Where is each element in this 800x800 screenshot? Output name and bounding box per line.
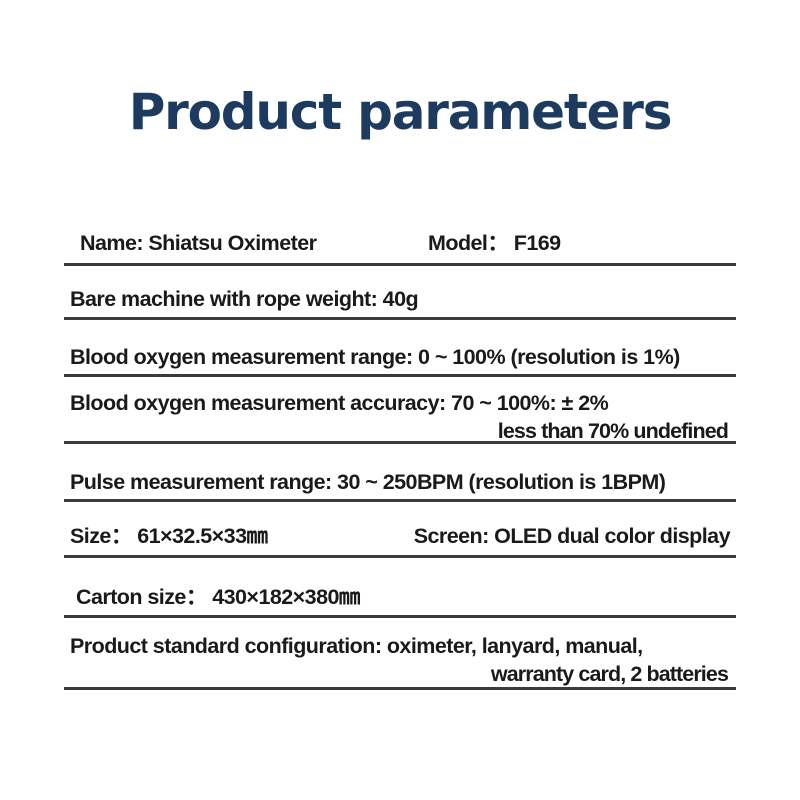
specification-table: Name: Shiatsu Oximeter Model： F169 Bare …	[64, 212, 736, 690]
spec-label-size: Size： 61×32.5×33㎜	[70, 523, 414, 551]
row-content: Blood oxygen measurement accuracy: 70 ~ …	[64, 390, 736, 445]
row-content: Bare machine with rope weight: 40g	[64, 286, 736, 314]
row-content: Product standard configuration: oximeter…	[64, 633, 736, 688]
product-parameters-page: Product parameters Name: Shiatsu Oximete…	[0, 0, 800, 800]
spec-text-spo2-accuracy-line2: less than 70% undefined	[70, 418, 730, 446]
row-content: Size： 61×32.5×33㎜ Screen: OLED dual colo…	[64, 523, 736, 551]
spec-text-bare-weight: Bare machine with rope weight: 40g	[70, 286, 730, 314]
spec-row-spo2-range: Blood oxygen measurement range: 0 ~ 100%…	[64, 320, 736, 377]
row-content: Carton size： 430×182×380㎜	[64, 584, 736, 612]
row-content: Name: Shiatsu Oximeter Model： F169	[64, 230, 736, 258]
spec-text-configuration-line1: Product standard configuration: oximeter…	[70, 633, 730, 661]
spec-text-carton-size: Carton size： 430×182×380㎜	[76, 584, 730, 612]
spec-text-spo2-accuracy-line1: Blood oxygen measurement accuracy: 70 ~ …	[70, 390, 730, 418]
page-title: Product parameters	[129, 86, 672, 139]
spec-row-spo2-accuracy: Blood oxygen measurement accuracy: 70 ~ …	[64, 377, 736, 444]
spec-row-standard-configuration: Product standard configuration: oximeter…	[64, 618, 736, 690]
page-title-container: Product parameters	[0, 86, 800, 139]
spec-row-bare-weight: Bare machine with rope weight: 40g	[64, 266, 736, 320]
row-content: Pulse measurement range: 30 ~ 250BPM (re…	[64, 469, 736, 497]
spec-text-spo2-range: Blood oxygen measurement range: 0 ~ 100%…	[70, 344, 730, 372]
spec-row-pulse-range: Pulse measurement range: 30 ~ 250BPM (re…	[64, 444, 736, 502]
spec-row-carton-size: Carton size： 430×182×380㎜	[64, 558, 736, 618]
spec-label-name: Name: Shiatsu Oximeter	[70, 230, 428, 258]
spec-text-configuration-line2: warranty card, 2 batteries	[70, 661, 730, 689]
spec-text-pulse-range: Pulse measurement range: 30 ~ 250BPM (re…	[70, 469, 730, 497]
spec-label-screen: Screen: OLED dual color display	[414, 523, 730, 551]
row-content: Blood oxygen measurement range: 0 ~ 100%…	[64, 344, 736, 372]
spec-row-size-screen: Size： 61×32.5×33㎜ Screen: OLED dual colo…	[64, 502, 736, 558]
spec-row-name-model: Name: Shiatsu Oximeter Model： F169	[64, 212, 736, 266]
spec-label-model: Model： F169	[428, 230, 561, 258]
